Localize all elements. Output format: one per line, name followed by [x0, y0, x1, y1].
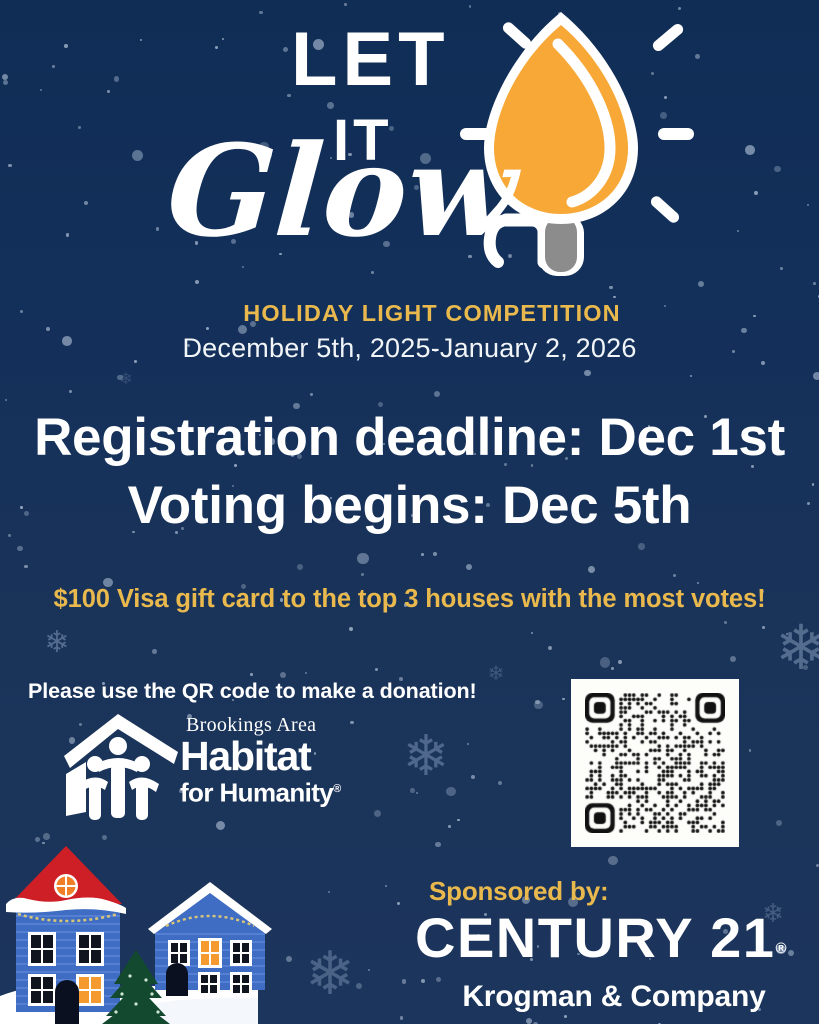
- sponsor-office-name: Krogman & Company: [415, 980, 819, 1014]
- snow-dot: [368, 969, 370, 971]
- snow-dot: [531, 632, 533, 634]
- snowflake-icon: ❄: [398, 728, 454, 784]
- snow-dot: [803, 665, 808, 670]
- snow-dot: [434, 391, 440, 397]
- snow-dot: [433, 552, 437, 556]
- snow-dot: [690, 375, 692, 377]
- snow-dot: [697, 582, 699, 584]
- habitat-for-humanity-logo: Brookings Area Habitat for Humanity®: [62, 712, 372, 820]
- snow-dot: [534, 701, 542, 709]
- snow-dot: [297, 564, 303, 570]
- snowflake-icon: ❄: [486, 664, 506, 684]
- prize-text: $100 Visa gift card to the top 3 houses …: [0, 585, 819, 614]
- snow-dot: [498, 781, 502, 785]
- snow-dot: [374, 810, 381, 817]
- snow-dot: [102, 835, 107, 840]
- habitat-line-for-humanity: for Humanity®: [180, 776, 341, 806]
- snow-dot: [608, 856, 617, 865]
- house-right: [148, 882, 272, 996]
- snow-dot: [69, 390, 72, 393]
- poster: ❄❄❄❄❄❄❄❄❄ LET: [0, 0, 819, 1024]
- snow-dot: [548, 646, 552, 650]
- registered-trademark-mark: ®: [775, 940, 786, 957]
- snow-dot: [471, 775, 475, 779]
- snow-dot: [611, 667, 614, 670]
- sponsored-by-label: Sponsored by:: [415, 876, 819, 907]
- snow-dot: [349, 627, 353, 631]
- snow-dot: [24, 565, 27, 568]
- snow-dot: [535, 700, 540, 705]
- logo-line-glow: Glow: [164, 128, 521, 254]
- snowflake-icon: ❄: [300, 944, 360, 1004]
- snowflake-icon: ❄: [770, 618, 819, 680]
- habitat-house-people-icon: [62, 712, 180, 820]
- snow-dot: [673, 574, 676, 577]
- snow-dot: [562, 698, 565, 701]
- snow-dot: [397, 902, 400, 905]
- century-21-text: CENTURY 21: [415, 906, 775, 969]
- event-date-range: December 5th, 2025-January 2, 2026: [0, 333, 819, 364]
- snow-dot: [410, 788, 415, 793]
- snow-dot: [421, 553, 424, 556]
- snow-dot: [762, 626, 765, 629]
- snow-dot: [375, 668, 378, 671]
- snow-dot: [776, 820, 782, 826]
- snow-dot: [357, 553, 369, 565]
- snow-dot: [280, 672, 287, 679]
- snowflake-icon: ❄: [42, 628, 72, 658]
- snow-dot: [588, 566, 595, 573]
- snow-dot: [467, 743, 469, 745]
- snow-dot: [618, 660, 622, 664]
- snow-dot: [749, 749, 751, 751]
- habitat-for-humanity-text: for Humanity: [180, 778, 333, 808]
- snow-dot: [730, 656, 736, 662]
- snow-dot: [42, 842, 45, 845]
- snow-dot: [435, 842, 441, 848]
- snow-dot: [117, 375, 123, 381]
- sponsor-block: Sponsored by: CENTURY 21® Krogman & Comp…: [415, 876, 819, 1014]
- snow-dot: [305, 672, 307, 674]
- sparkle-ray-icon: [658, 128, 694, 140]
- snow-dot: [385, 885, 387, 887]
- snow-dot: [466, 564, 472, 570]
- snow-dot: [724, 621, 727, 624]
- snowflake-icon: ❄: [118, 372, 134, 388]
- snow-dot: [446, 787, 455, 796]
- snow-dot: [638, 543, 645, 550]
- snow-dot: [361, 573, 364, 576]
- snow-dot: [448, 825, 451, 828]
- logo-subtitle: HOLIDAY LIGHT COMPETITION: [0, 300, 819, 327]
- snow-dot: [216, 821, 226, 831]
- house-left: [6, 846, 126, 1024]
- donation-qr-code[interactable]: [571, 679, 739, 847]
- headline-block: Registration deadline: Dec 1st Voting be…: [0, 404, 819, 540]
- snow-dot: [813, 372, 819, 380]
- snow-dot: [43, 833, 50, 840]
- snow-dot: [564, 1015, 567, 1018]
- snow-dot: [416, 792, 418, 794]
- snow-dot: [250, 673, 253, 676]
- snow-dot: [457, 819, 460, 822]
- snow-dot: [600, 657, 611, 668]
- logo-line-let: LET: [291, 22, 450, 98]
- snow-dot: [152, 649, 157, 654]
- donation-instruction: Please use the QR code to make a donatio…: [28, 679, 477, 704]
- registered-trademark-mark: ®: [333, 783, 341, 795]
- headline-line-voting: Voting begins: Dec 5th: [0, 472, 819, 540]
- qr-code-icon[interactable]: [585, 693, 725, 833]
- snow-dot: [400, 1016, 404, 1020]
- headline-line-registration: Registration deadline: Dec 1st: [0, 404, 819, 472]
- let-it-glow-logo: LET IT Glow HOLIDAY LIGHT COMPETITION De…: [0, 0, 819, 372]
- snow-dot: [35, 837, 40, 842]
- snow-dot: [17, 546, 23, 552]
- habitat-line-habitat: Habitat: [180, 736, 341, 776]
- snow-dot: [328, 891, 331, 894]
- snow-dot: [5, 399, 7, 401]
- snow-dot: [310, 393, 314, 397]
- snow-dot: [402, 979, 407, 984]
- snow-dot: [786, 633, 788, 635]
- winter-houses-illustration: [0, 846, 290, 1024]
- century-21-brand: CENTURY 21®: [415, 907, 819, 980]
- snow-dot: [356, 983, 362, 989]
- snow-dot: [526, 1018, 533, 1024]
